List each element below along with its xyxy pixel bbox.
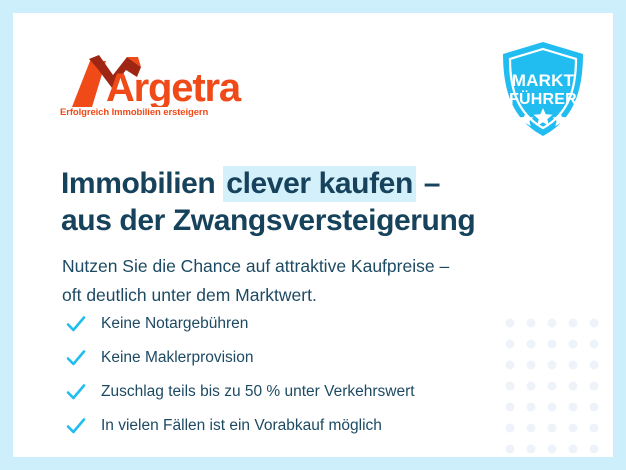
- brand-logo[interactable]: Argetra Erfolgreich Immobilien ersteiger…: [58, 51, 268, 123]
- subtitle: Nutzen Sie die Chance auf attraktive Kau…: [62, 252, 562, 310]
- check-icon: [65, 347, 87, 369]
- ad-card: Argetra Erfolgreich Immobilien ersteiger…: [13, 13, 613, 457]
- headline-line-1: Immobilien clever kaufen –: [61, 165, 561, 202]
- check-icon: [65, 313, 87, 335]
- badge-line1-text: MARKT: [512, 71, 575, 90]
- ad-banner: Argetra Erfolgreich Immobilien ersteiger…: [0, 0, 626, 470]
- check-icon: [65, 381, 87, 403]
- shield-badge-icon: MARKT FÜHRER: [497, 40, 589, 138]
- headline: Immobilien clever kaufen – aus der Zwang…: [61, 165, 561, 239]
- benefit-label: Keine Notargebühren: [101, 316, 248, 332]
- market-leader-badge: MARKT FÜHRER: [497, 40, 589, 138]
- argetra-logo-icon: Argetra: [58, 51, 258, 107]
- badge-line2-text: FÜHRER: [509, 89, 577, 108]
- headline-line-2: aus der Zwangsversteigerung: [61, 202, 561, 239]
- check-icon: [65, 415, 87, 437]
- list-item: In vielen Fällen ist ein Vorabkauf mögli…: [65, 411, 535, 441]
- list-item: Keine Notargebühren: [65, 309, 535, 339]
- svg-text:Argetra: Argetra: [106, 66, 242, 107]
- benefit-label: Zuschlag teils bis zu 50 % unter Verkehr…: [101, 384, 415, 400]
- subtitle-line-2: oft deutlich unter dem Marktwert.: [62, 281, 562, 310]
- benefit-label: In vielen Fällen ist ein Vorabkauf mögli…: [101, 418, 382, 434]
- headline-post-text: –: [416, 167, 440, 200]
- subtitle-line-1: Nutzen Sie die Chance auf attraktive Kau…: [62, 252, 562, 281]
- list-item: Zuschlag teils bis zu 50 % unter Verkehr…: [65, 377, 535, 407]
- benefits-list: Keine Notargebühren Keine Maklerprovisio…: [65, 309, 535, 445]
- benefit-label: Keine Maklerprovision: [101, 350, 254, 366]
- logo-tagline: Erfolgreich Immobilien ersteigern: [60, 107, 208, 118]
- list-item: Keine Maklerprovision: [65, 343, 535, 373]
- headline-highlight: clever kaufen: [223, 166, 416, 202]
- headline-pre-text: Immobilien: [61, 167, 223, 200]
